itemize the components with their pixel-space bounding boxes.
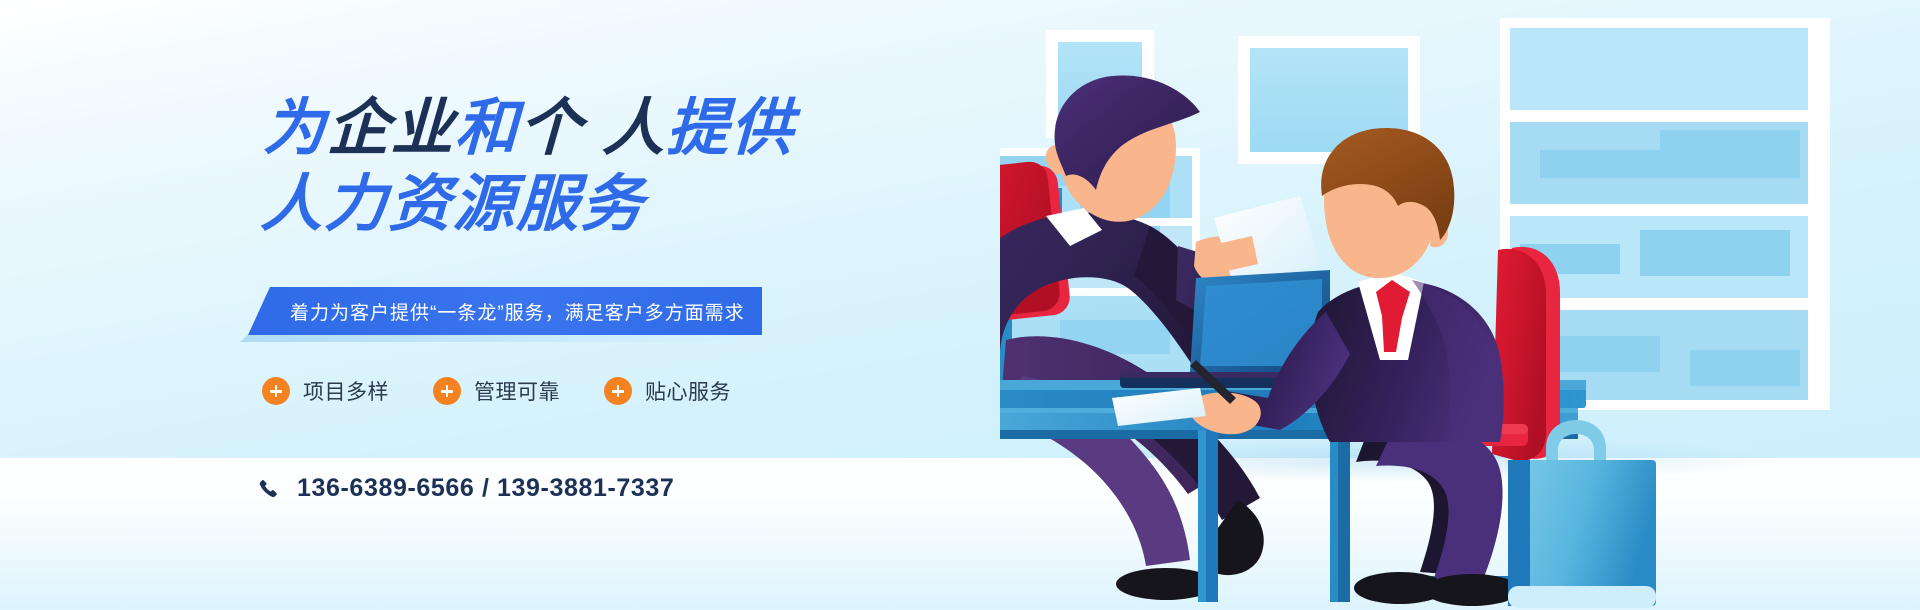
headline-seg-3: 和 [454,94,520,163]
feature-label-3: 贴心服务 [645,376,731,406]
feature-label-2: 管理可靠 [474,376,560,406]
headline-seg-1: 为 [262,94,328,163]
headline-seg-4: 个 人 [518,94,668,163]
plus-icon [604,377,632,405]
contact-row[interactable]: 136-6389-6566 / 139-3881-7337 [258,474,674,503]
feature-item-1[interactable]: 项目多样 [262,376,389,406]
office-illustration [1000,0,1920,610]
feature-item-2[interactable]: 管理可靠 [433,376,560,406]
headline-line-2: 人力资源服务 [260,174,793,236]
headline-seg-5: 提供 [665,94,795,163]
hr-service-banner: 为企业和个 人提供 人力资源服务 着力为客户提供“一条龙”服务，满足客户多方面需… [0,0,1920,610]
plus-icon [262,377,290,405]
person-b-head [1321,128,1454,278]
ribbon-label: 着力为客户提供“一条龙”服务，满足客户多方面需求 [248,287,762,335]
subtitle-ribbon: 着力为客户提供“一条龙”服务，满足客户多方面需求 [248,287,762,335]
phone-icon [258,478,280,500]
headline-seg-6: 人力资源服务 [259,170,645,239]
feature-item-3[interactable]: 贴心服务 [604,376,731,406]
headline-seg-2: 企业 [326,94,456,163]
feature-label-1: 项目多样 [303,376,389,406]
phone-number: 136-6389-6566 / 139-3881-7337 [297,474,674,503]
headline-line-1: 为企业和个 人提供 [262,98,795,160]
plus-icon [433,377,461,405]
feature-list: 项目多样 管理可靠 贴心服务 [262,376,731,406]
headline: 为企业和个 人提供 人力资源服务 [260,98,796,236]
